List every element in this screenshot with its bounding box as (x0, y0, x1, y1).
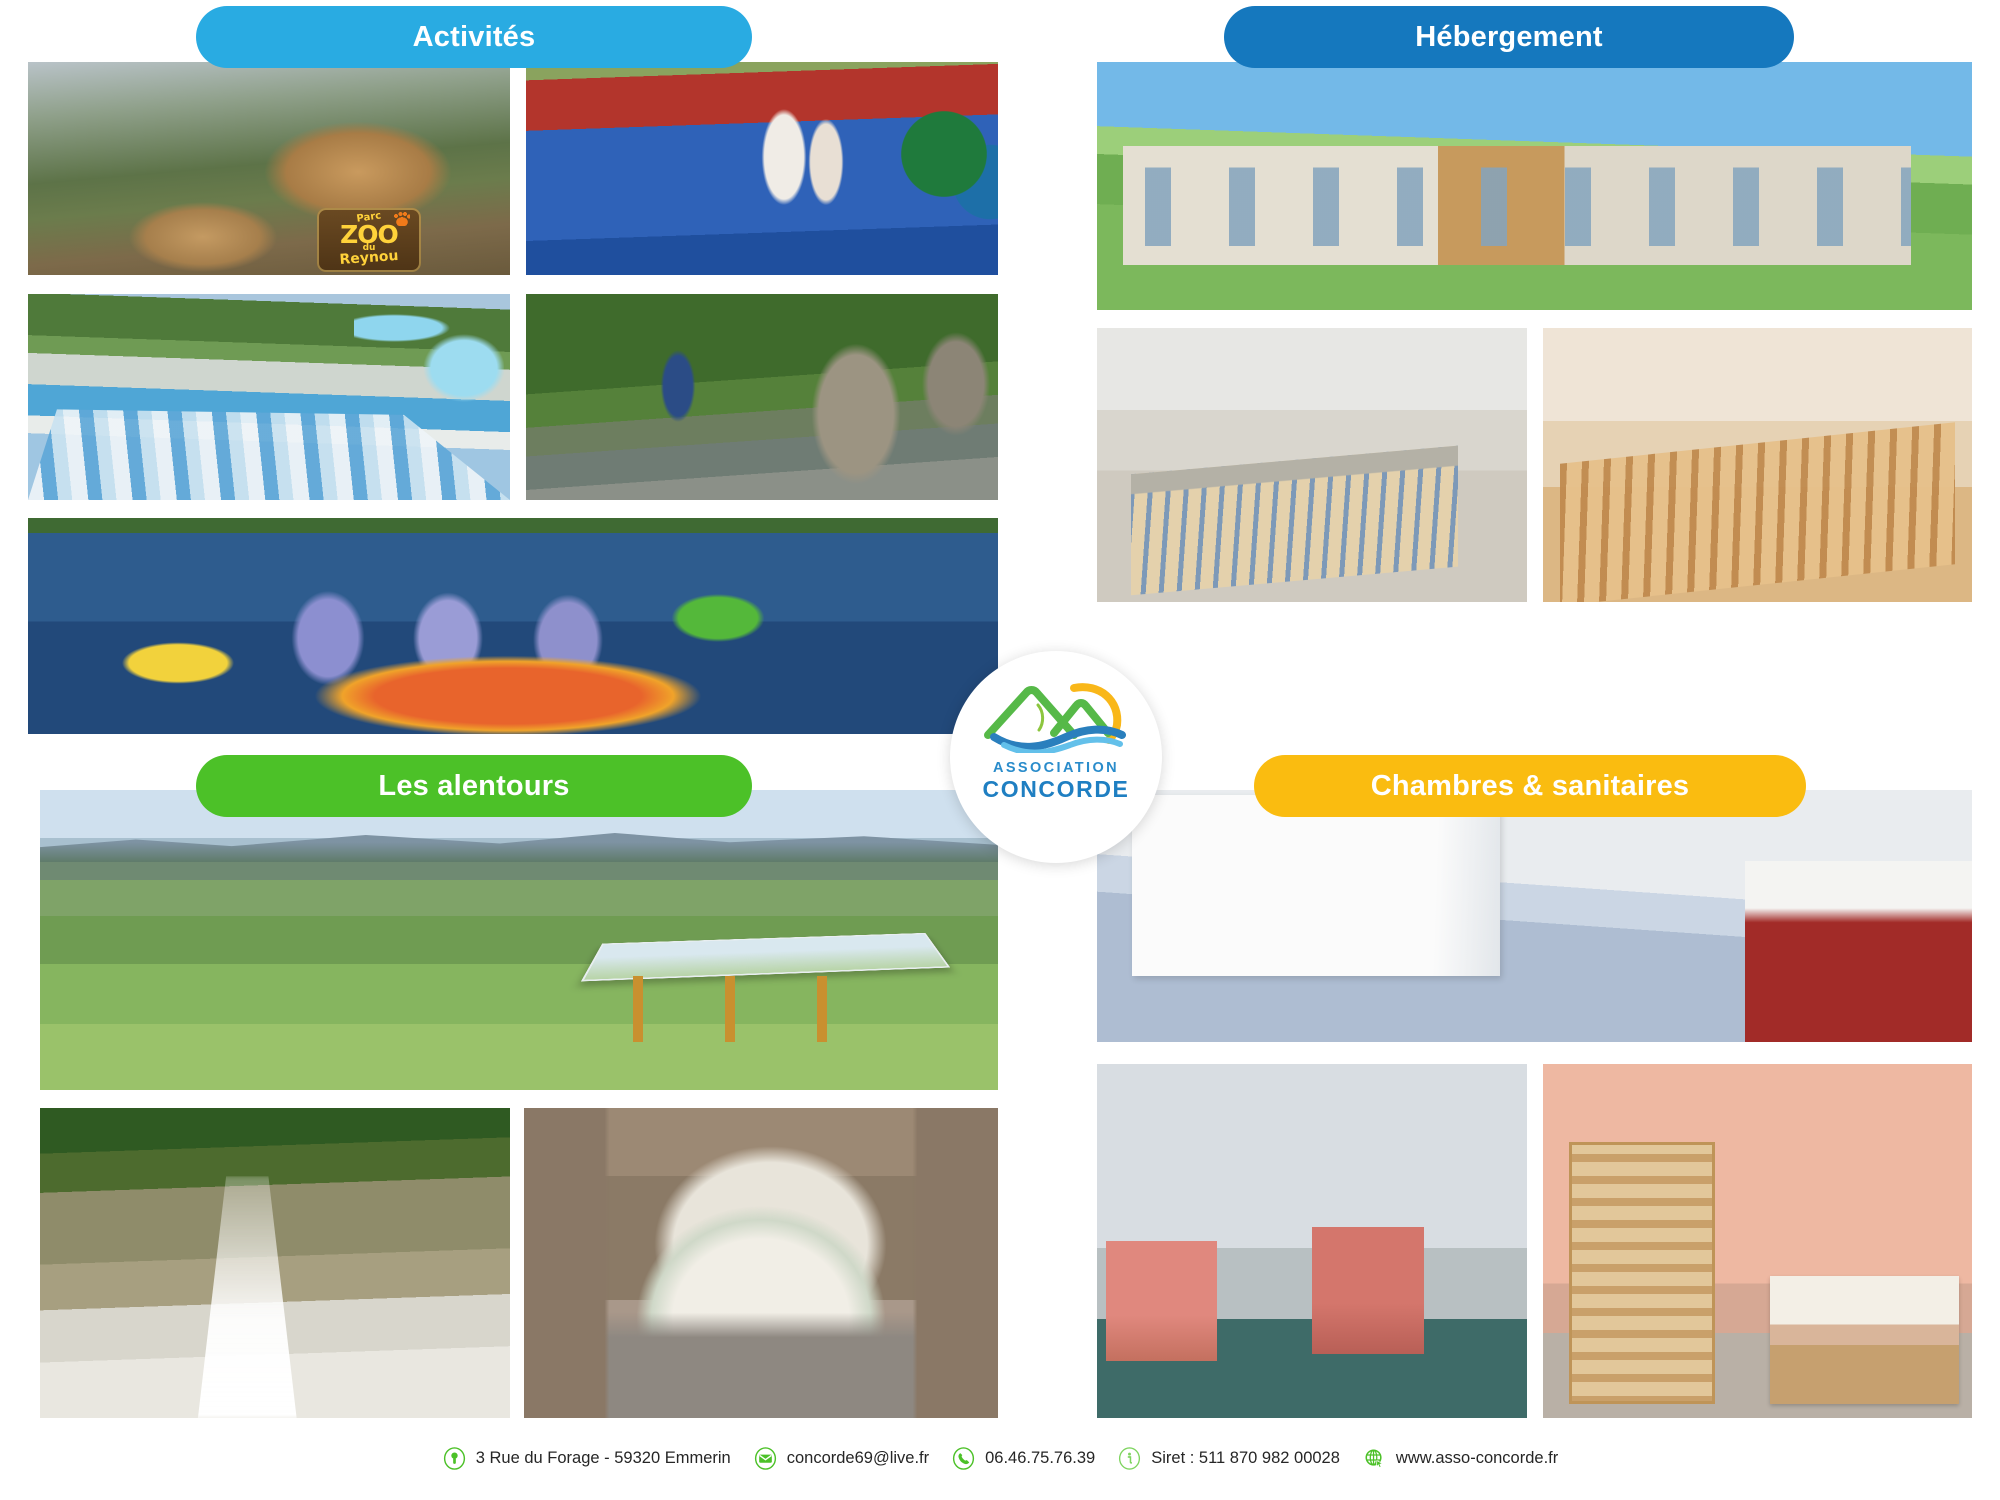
globe-cursor-icon (1362, 1446, 1387, 1471)
footer-contact-bar: 3 Rue du Forage - 59320 Emmerin concorde… (0, 1438, 2000, 1478)
photo-dining-hall-blue (1097, 328, 1527, 602)
photo-canyoning-jump (526, 294, 998, 500)
phone-icon (951, 1446, 976, 1471)
photo-village-arch (524, 1108, 998, 1418)
photo-dormitory-corridor (1097, 790, 1972, 1042)
footer-address-text: 3 Rue du Forage - 59320 Emmerin (476, 1449, 731, 1468)
logo-mountain-wave-sun-icon (982, 675, 1130, 758)
section-title-hebergement: Hébergement (1224, 6, 1794, 68)
section-title-chambres: Chambres & sanitaires (1254, 755, 1806, 817)
photo-kayak-lake (28, 518, 998, 734)
photo-main-building (1097, 62, 1972, 310)
footer-item-website[interactable]: www.asso-concorde.fr (1362, 1446, 1558, 1471)
section-hebergement (1097, 62, 1972, 734)
info-icon (1117, 1446, 1142, 1471)
footer-item-address: 3 Rue du Forage - 59320 Emmerin (442, 1446, 731, 1471)
orientation-table (581, 933, 950, 982)
footer-website-text[interactable]: www.asso-concorde.fr (1396, 1449, 1558, 1468)
photo-cascade-gorge (40, 1108, 510, 1418)
section-chambres (1097, 790, 1972, 1418)
association-concorde-logo: ASSOCIATION CONCORDE (950, 651, 1162, 863)
photo-dining-hall-wood (1543, 328, 1972, 602)
section-title-activites: Activités (196, 6, 752, 68)
zoo-du-reynou-logo: Parc ZOO du Reynou (317, 208, 421, 272)
location-pin-icon (442, 1446, 467, 1471)
section-title-alentours: Les alentours (196, 755, 752, 817)
orientation-table-legs (615, 976, 902, 1042)
logo-wordmark: ASSOCIATION CONCORDE (983, 760, 1130, 803)
footer-item-siret: Siret : 511 870 982 00028 (1117, 1446, 1340, 1471)
photo-lions-zoo: Parc ZOO du Reynou (28, 62, 510, 275)
footer-item-email[interactable]: concorde69@live.fr (753, 1446, 929, 1471)
logo-concorde-text: CONCORDE (983, 777, 1130, 803)
photo-panorama-monts (40, 790, 998, 1090)
envelope-icon (753, 1446, 778, 1471)
logo-association-text: ASSOCIATION (983, 760, 1130, 776)
brochure-page: Parc ZOO du Reynou Activités Hébergemen (0, 0, 2000, 1500)
footer-email-text[interactable]: concorde69@live.fr (787, 1449, 929, 1468)
footer-phone-text[interactable]: 06.46.75.76.39 (985, 1449, 1095, 1468)
section-activites: Parc ZOO du Reynou (28, 62, 998, 734)
photo-inflatable-course (526, 62, 998, 275)
footer-item-phone[interactable]: 06.46.75.76.39 (951, 1446, 1095, 1471)
photo-waterpark-slides (28, 294, 510, 500)
photo-bedroom-bunk (1543, 1064, 1972, 1418)
section-alentours (40, 790, 998, 1418)
footer-siret-text: Siret : 511 870 982 00028 (1151, 1449, 1340, 1468)
photo-bedroom-twin (1097, 1064, 1527, 1418)
